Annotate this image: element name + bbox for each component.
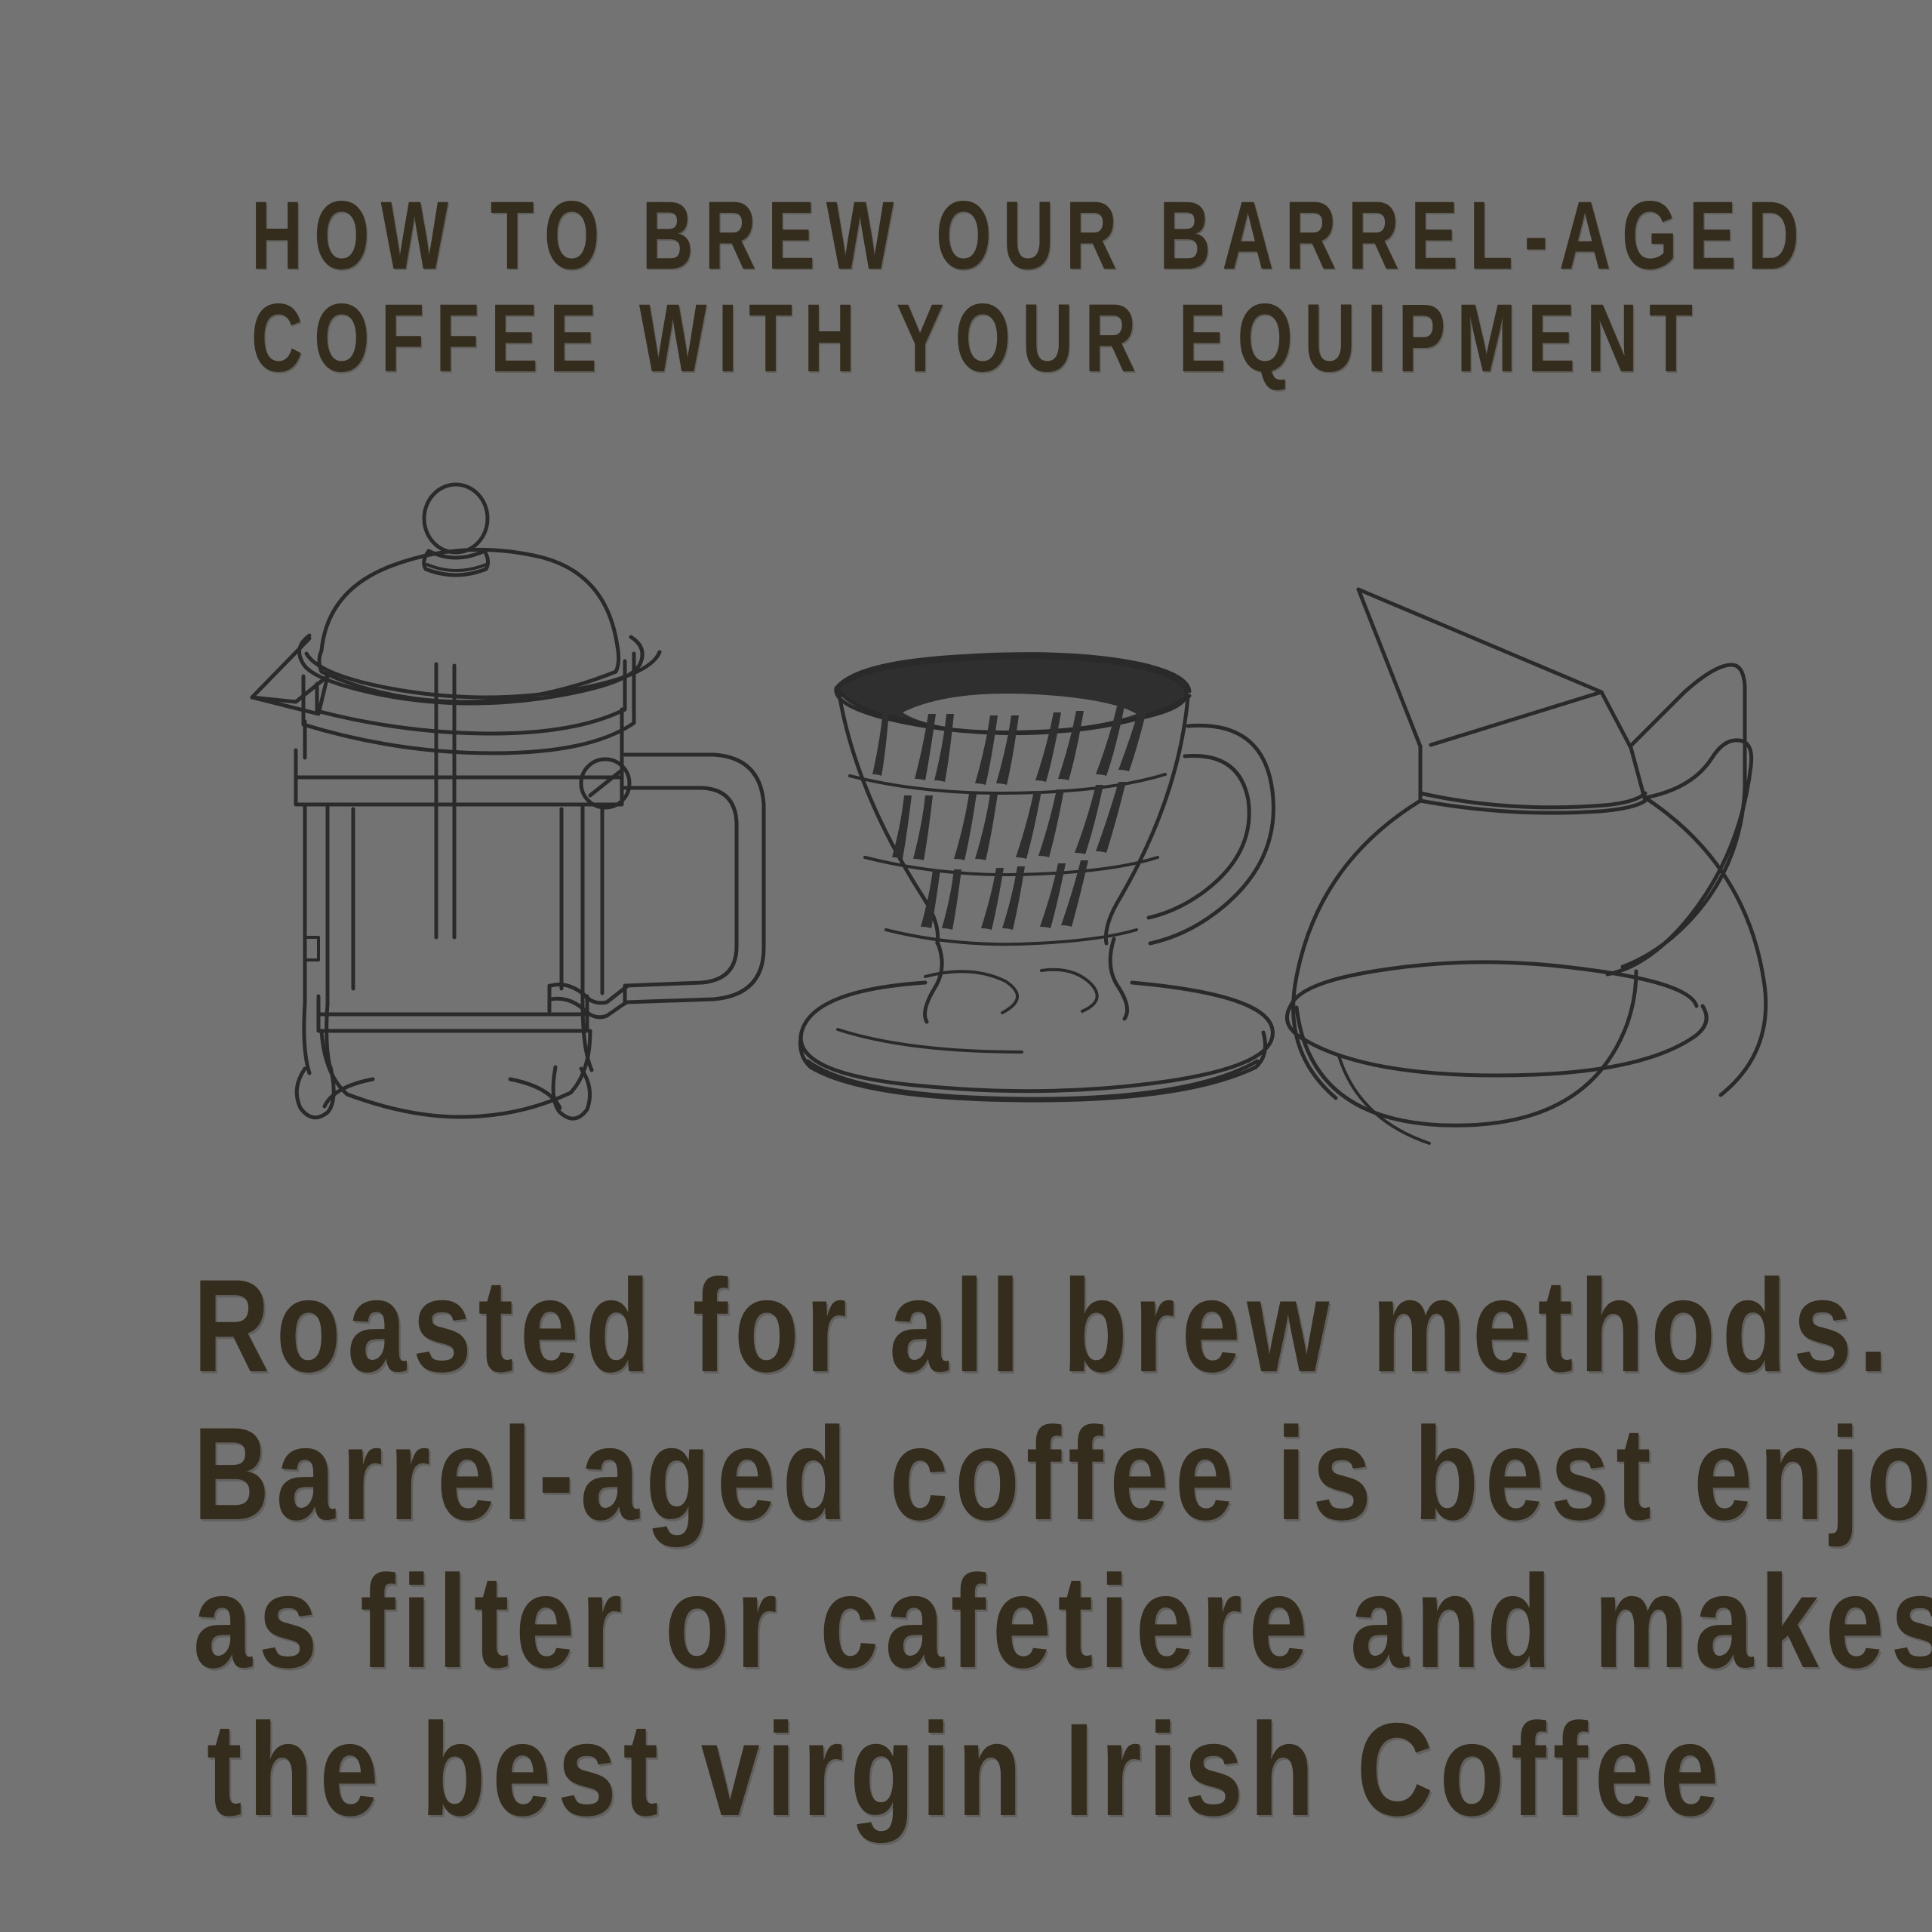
illustration-row [0,453,1932,1177]
body-copy-line-4: the best virgin Irish Coffee [193,1697,1739,1844]
page-title-line-2: COFFEE WITH YOUR EQUIPMENT [251,288,1681,390]
page-title-line-1: HOW TO BREW OUR BARREL-AGED [251,185,1681,288]
french-press-icon [249,475,777,1147]
poster-canvas: HOW TO BREW OUR BARREL-AGED COFFEE WITH … [0,0,1932,1932]
body-copy-line-3: as filter or cafetiere and makes [193,1549,1739,1697]
body-copy-line-1: Roasted for all brew methods. Our [193,1253,1739,1401]
page-title: HOW TO BREW OUR BARREL-AGED COFFEE WITH … [251,185,1681,390]
coffee-carafe-icon [1275,585,1902,1128]
body-copy: Roasted for all brew methods. Our Barrel… [193,1253,1739,1844]
pour-over-dripper-icon [792,641,1275,1117]
body-copy-line-2: Barrel-aged coffee is best enjoyed [193,1401,1739,1549]
